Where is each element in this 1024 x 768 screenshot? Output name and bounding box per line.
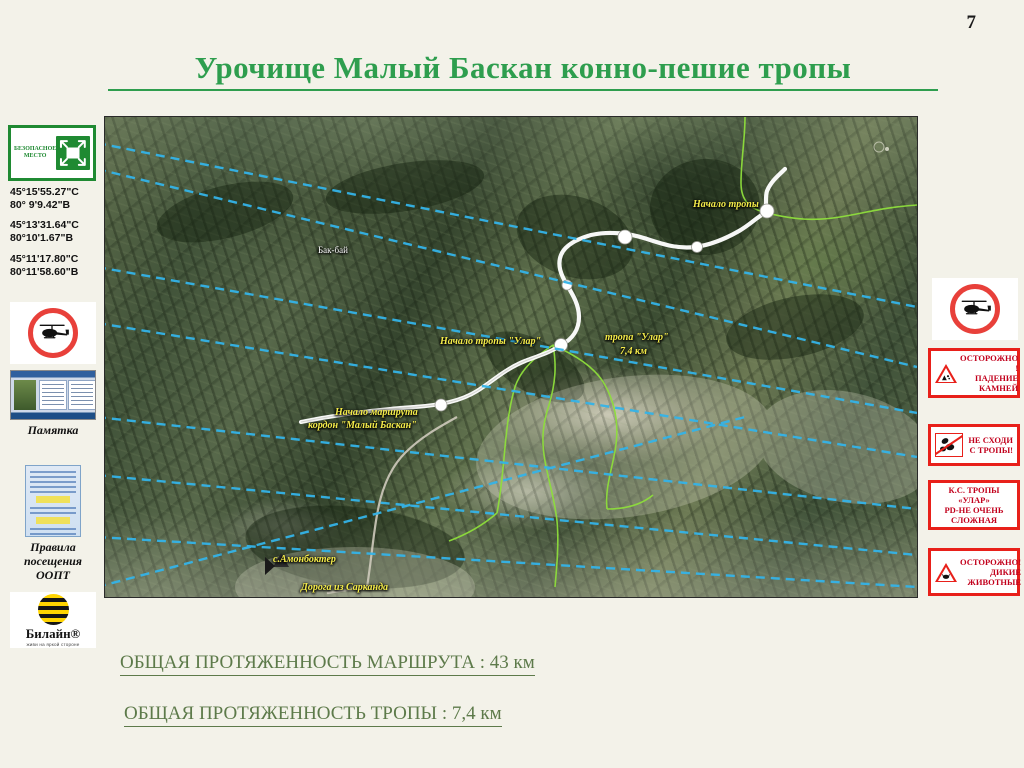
no-helicopter-icon	[28, 308, 78, 358]
summary-trail-total: ОБЩАЯ ПРОТЯЖЕННОСТЬ ТРОПЫ : 7,4 км	[124, 703, 502, 727]
sign-trail-difficulty[interactable]: К.С. ТРОПЫ «УЛАР» PD-НЕ ОЧЕНЬ СЛОЖНАЯ	[928, 480, 1020, 530]
rules-thumbnail[interactable]: Правила посещения ООПТ	[25, 465, 89, 582]
map-label-bakbai: Бак-бай	[318, 245, 348, 255]
sign-falling-rocks[interactable]: ОСТОРОЖНО ! ПАДЕНИЕ КАМНЕЙ	[928, 348, 1020, 398]
rules-caption-line: ООПТ	[17, 569, 89, 583]
no-helicopter-sign-left[interactable]	[10, 302, 96, 364]
rules-poster-image	[25, 465, 81, 537]
memo-poster-image	[10, 370, 96, 420]
sign-stay-on-trail[interactable]: НЕ СХОДИ С ТРОПЫ!	[928, 424, 1020, 466]
sign-wild-animals[interactable]: ОСТОРОЖНО! ДИКИЕ ЖИВОТНЫЕ	[928, 548, 1020, 596]
sign-line: PD-НЕ ОЧЕНЬ	[935, 505, 1013, 515]
map-label-ular-length: 7,4 км	[620, 346, 647, 358]
sign-stay-on-trail-text: НЕ СХОДИ С ТРОПЫ!	[966, 435, 1013, 455]
rules-caption-line: Правила	[17, 541, 89, 555]
coord-lon: 80° 9'9.42"В	[10, 199, 104, 212]
map-label-ular-trail: тропа "Улар"	[605, 332, 669, 344]
map-label-kordon: кордон "Малый Баскан"	[308, 420, 417, 432]
safe-place-line1: БЕЗОПАСНОЕ	[14, 146, 56, 154]
map-label-trail-start: Начало тропы	[693, 199, 759, 211]
coord-lon: 80°10'1.67"В	[10, 232, 104, 245]
summary-route-total: ОБЩАЯ ПРОТЯЖЕННОСТЬ МАРШРУТА : 43 км	[120, 652, 535, 676]
no-helicopter-icon	[950, 284, 1000, 334]
satellite-map[interactable]: Начало тропы Начало тропы "Улар" тропа "…	[105, 117, 917, 597]
map-label-ular-trail-start: Начало тропы "Улар"	[440, 336, 541, 348]
coordinate-row: 45°11'17.80"С 80°11'58.60"В	[10, 253, 104, 279]
beeline-logo-icon	[38, 594, 69, 625]
map-label-route-start: Начало маршрута	[335, 407, 418, 419]
sign-trail-difficulty-text: К.С. ТРОПЫ «УЛАР» PD-НЕ ОЧЕНЬ СЛОЖНАЯ	[935, 485, 1013, 525]
map-overlay	[105, 117, 917, 597]
sponsor-logo[interactable]: Билайн® живи на яркой стороне	[10, 592, 96, 648]
sign-line: СЛОЖНАЯ	[935, 515, 1013, 525]
coordinate-row: 45°13'31.64"С 80°10'1.67"В	[10, 219, 104, 245]
safe-place-icon	[56, 136, 90, 170]
coordinate-row: 45°15'55.27"С 80° 9'9.42"В	[10, 186, 104, 212]
map-label-road: Дорога из Сарканда	[301, 582, 388, 594]
coordinates-list: 45°15'55.27"С 80° 9'9.42"В 45°13'31.64"С…	[10, 186, 104, 286]
coord-lat: 45°13'31.64"С	[10, 219, 104, 232]
memo-thumbnail[interactable]: Памятка	[10, 370, 96, 438]
sign-line: С ТРОПЫ!	[966, 445, 1013, 455]
falling-rocks-icon	[935, 364, 957, 383]
sign-line: ЖИВОТНЫЕ	[960, 577, 1021, 587]
sign-line: НЕ СХОДИ	[966, 435, 1013, 445]
sign-line: КАМНЕЙ	[960, 383, 1018, 393]
page-title: Урочище Малый Баскан конно-пешие тропы	[108, 50, 938, 91]
sponsor-name: Билайн®	[26, 626, 81, 642]
coord-lon: 80°11'58.60"В	[10, 266, 104, 279]
map-label-village: с.Амонбоктер	[273, 554, 336, 566]
no-helicopter-sign-right[interactable]	[932, 278, 1018, 340]
memo-caption: Памятка	[10, 424, 96, 438]
slide: 7 Урочище Малый Баскан конно-пешие тропы	[0, 0, 1024, 768]
coord-lat: 45°15'55.27"С	[10, 186, 104, 199]
sign-line: «УЛАР»	[935, 495, 1013, 505]
no-offtrail-icon	[935, 433, 963, 457]
wild-animals-icon	[935, 563, 957, 582]
sponsor-tagline: живи на яркой стороне	[26, 642, 79, 647]
sign-line: ОСТОРОЖНО!	[960, 557, 1021, 567]
safe-place-sign[interactable]: БЕЗОПАСНОЕ МЕСТО	[8, 125, 96, 181]
page-number: 7	[967, 12, 977, 34]
sign-wild-animals-text: ОСТОРОЖНО! ДИКИЕ ЖИВОТНЫЕ	[960, 557, 1021, 587]
rules-caption-line: посещения	[17, 555, 89, 569]
coord-lat: 45°11'17.80"С	[10, 253, 104, 266]
rules-caption: Правила посещения ООПТ	[17, 541, 89, 582]
sign-line: К.С. ТРОПЫ	[935, 485, 1013, 495]
sign-falling-rocks-text: ОСТОРОЖНО ! ПАДЕНИЕ КАМНЕЙ	[960, 353, 1018, 393]
safe-place-line2: МЕСТО	[14, 153, 56, 161]
sign-line: ОСТОРОЖНО !	[960, 353, 1018, 373]
sign-line: ПАДЕНИЕ	[960, 373, 1018, 383]
sign-line: ДИКИЕ	[960, 567, 1021, 577]
